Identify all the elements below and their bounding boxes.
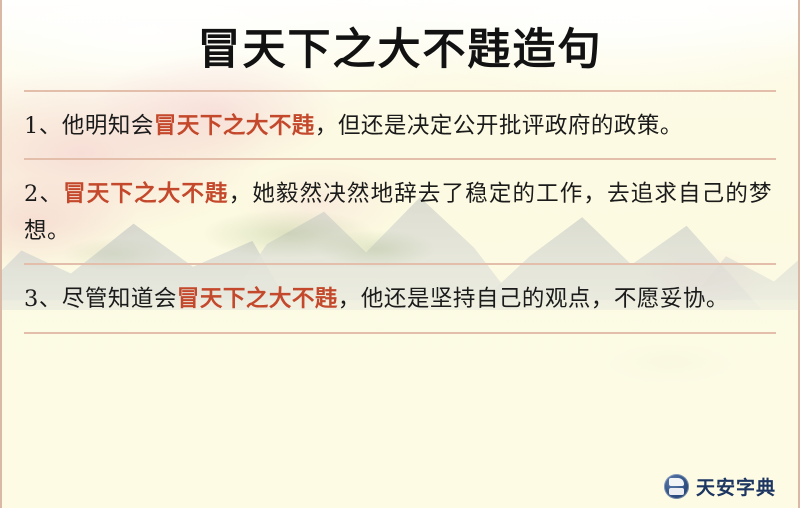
circular-seal-icon <box>664 474 689 499</box>
page-title: 冒天下之大不韪造句 <box>2 0 798 78</box>
sentence-item-3: 3、尽管知道会冒天下之大不韪，他还是坚持自己的观点，不愿妥协。 <box>2 265 798 331</box>
sentence-item-1: 1、他明知会冒天下之大不韪，但还是决定公开批评政府的政策。 <box>2 92 798 158</box>
sentence-before-3: 尽管知道会 <box>62 286 177 312</box>
brand-name: 天安字典 <box>696 473 776 500</box>
footer-branding: 天安字典 <box>664 473 776 500</box>
sentence-keyword-1: 冒天下之大不韪 <box>154 113 315 139</box>
sentence-index-1: 1、 <box>24 113 62 139</box>
sentence-after-1: ，但还是决定公开批评政府的政策。 <box>315 113 683 139</box>
sentence-before-1: 他明知会 <box>62 113 154 139</box>
divider-after-sentence-3 <box>24 332 776 334</box>
sentence-after-3: ，他还是坚持自己的观点，不愿妥协。 <box>338 286 729 312</box>
sentence-list: 1、他明知会冒天下之大不韪，但还是决定公开批评政府的政策。 2、冒天下之大不韪，… <box>2 92 798 334</box>
sentence-keyword-3: 冒天下之大不韪 <box>177 286 338 312</box>
sentence-index-2: 2、 <box>24 181 63 207</box>
page-content: 冒天下之大不韪造句 1、他明知会冒天下之大不韪，但还是决定公开批评政府的政策。 … <box>2 0 798 508</box>
sentence-item-2: 2、冒天下之大不韪，她毅然决然地辞去了稳定的工作，去追求自己的梦想。 <box>2 160 798 263</box>
sentence-keyword-2: 冒天下之大不韪 <box>63 181 229 207</box>
sentence-index-3: 3、 <box>24 286 62 312</box>
document-page: 冒天下之大不韪造句 1、他明知会冒天下之大不韪，但还是决定公开批评政府的政策。 … <box>0 0 800 508</box>
